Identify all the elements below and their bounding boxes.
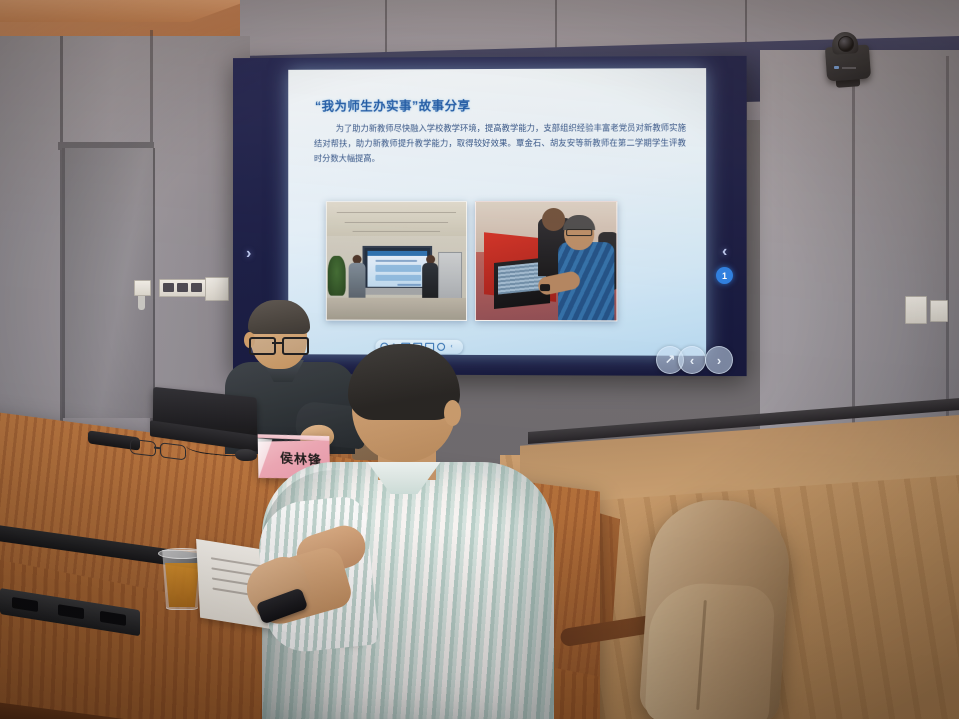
camera-lens-icon	[838, 36, 854, 52]
wall-outlet-plate[interactable]	[134, 280, 151, 296]
chair-front-panel	[644, 581, 775, 719]
slide-nav-right-arrow[interactable]: ‹	[722, 243, 727, 261]
projection-screen[interactable]: “我为师生办实事”故事分享 为了助力新教师尽快融入学校教学环境，提高教学能力，支…	[233, 56, 747, 376]
presentation-slide: “我为师生办实事”故事分享 为了助力新教师尽快融入学校教学环境，提高教学能力，支…	[288, 68, 706, 356]
slide-nav-left-arrow[interactable]: ›	[246, 245, 251, 263]
next-slide-button[interactable]: ›	[705, 346, 733, 374]
photo-laptop-mentoring	[475, 201, 617, 321]
emoji-icon[interactable]	[437, 343, 445, 351]
conference-room-photo: “我为师生办实事”故事分享 为了助力新教师尽快融入学校教学环境，提高教学能力，支…	[0, 0, 959, 719]
chevron-left-icon[interactable]: ‹	[448, 343, 455, 350]
eyeglasses-worn	[249, 337, 305, 353]
slide-page-badge: 1	[716, 267, 733, 284]
slide-body-text: 为了助力新教师尽快融入学校教学环境，提高教学能力，支部组织经验丰富老党员对新教师…	[314, 120, 686, 166]
wall-outlet-plate[interactable]	[905, 296, 927, 324]
person-ear	[444, 400, 461, 426]
slide-title: “我为师生办实事”故事分享	[315, 95, 471, 114]
camera-led-icon	[834, 66, 839, 69]
mouse[interactable]	[234, 449, 257, 461]
photo-classroom-display	[326, 201, 467, 321]
wall-outlet-plate[interactable]	[205, 277, 229, 301]
wall-outlet-plate[interactable]	[930, 300, 948, 322]
previous-slide-button[interactable]: ‹	[678, 346, 706, 374]
camera-detail	[842, 67, 856, 69]
